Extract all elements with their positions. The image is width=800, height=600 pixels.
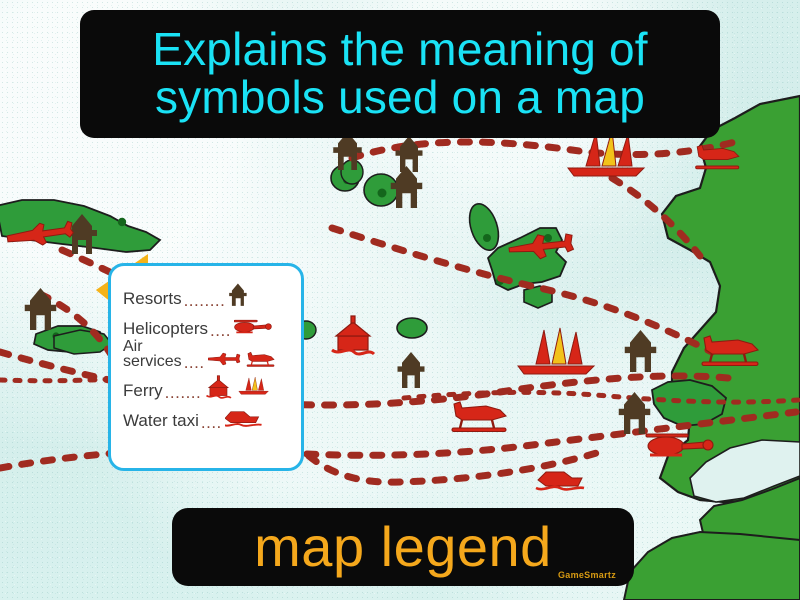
legend-symbols-water-taxi [225,409,263,429]
sailboat-icon [238,374,270,399]
legend-label-air-services: Air services [123,340,182,369]
legend-row-water-taxi: Water taxi .... [123,402,291,429]
legend-row-helicopters: Helicopters .... [123,310,291,337]
helicopter-icon [234,315,276,337]
legend-row-ferry: Ferry ....... [123,372,291,399]
term-banner: map legend GameSmartz [172,508,634,586]
ferry-boat-icon [204,374,234,399]
legend-card: Resorts ........ Helicopters .... [108,263,304,471]
definition-banner: Explains the meaning of symbols used on … [80,10,720,138]
resort-cabin-icon [228,283,250,307]
legend-row-resorts: Resorts ........ [123,280,291,307]
legend-label-helicopters: Helicopters [123,321,208,337]
watermark-label: GameSmartz [558,571,616,580]
legend-leader-dots-resorts: ........ [184,292,226,309]
legend-label-resorts: Resorts [123,291,182,307]
legend-leader-dots-helicopters: .... [210,322,231,339]
legend-symbols-ferry [204,374,270,399]
legend-leader-dots-air-services: .... [184,354,205,371]
legend-leader-dots-ferry: ....... [165,384,202,401]
definition-text: Explains the meaning of symbols used on … [98,26,702,122]
legend-symbols-resorts [228,283,250,307]
legend-symbols-helicopters [234,315,276,337]
speedboat-icon [225,409,263,429]
legend-leader-dots-water-taxi: .... [201,414,222,431]
floatplane-icon [246,349,276,369]
airplane-icon [208,349,242,369]
term-text: map legend [254,519,552,575]
legend-label-ferry: Ferry [123,383,163,399]
legend-symbols-air-services [208,349,276,369]
legend-label-water-taxi: Water taxi [123,413,199,429]
map-legend-definition-card: Resorts ........ Helicopters .... [0,0,800,600]
legend-row-air-services: Air services .... [123,340,291,369]
